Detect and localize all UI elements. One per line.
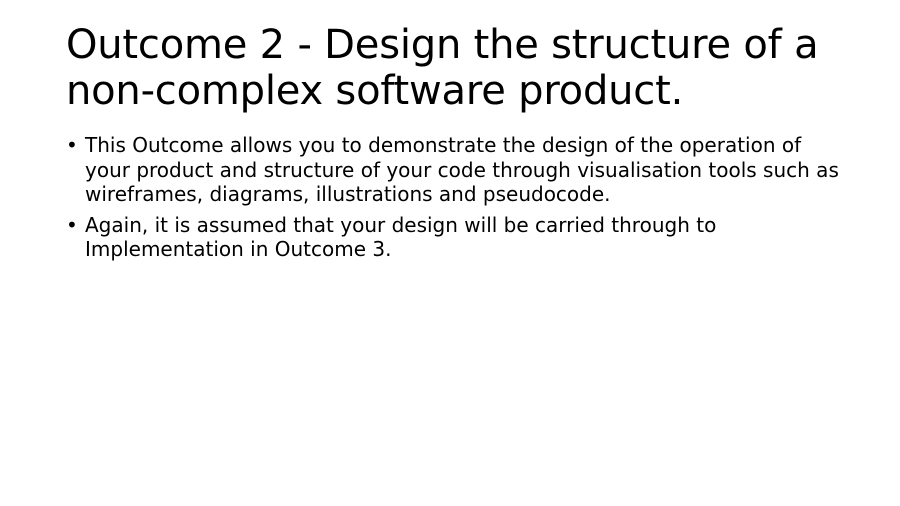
bullet-list-item: • This Outcome allows you to demonstrate… — [66, 133, 841, 207]
bullet-point-icon: • — [66, 213, 85, 238]
bullet-item-text: Again, it is assumed that your design wi… — [85, 213, 841, 262]
slide-title: Outcome 2 - Design the structure of a no… — [66, 22, 856, 114]
slide-body-content: • This Outcome allows you to demonstrate… — [66, 133, 841, 262]
bullet-list-item: • Again, it is assumed that your design … — [66, 213, 841, 262]
bullet-item-text: This Outcome allows you to demonstrate t… — [85, 133, 841, 207]
bullet-point-icon: • — [66, 133, 85, 158]
slide-canvas: Outcome 2 - Design the structure of a no… — [0, 0, 900, 506]
